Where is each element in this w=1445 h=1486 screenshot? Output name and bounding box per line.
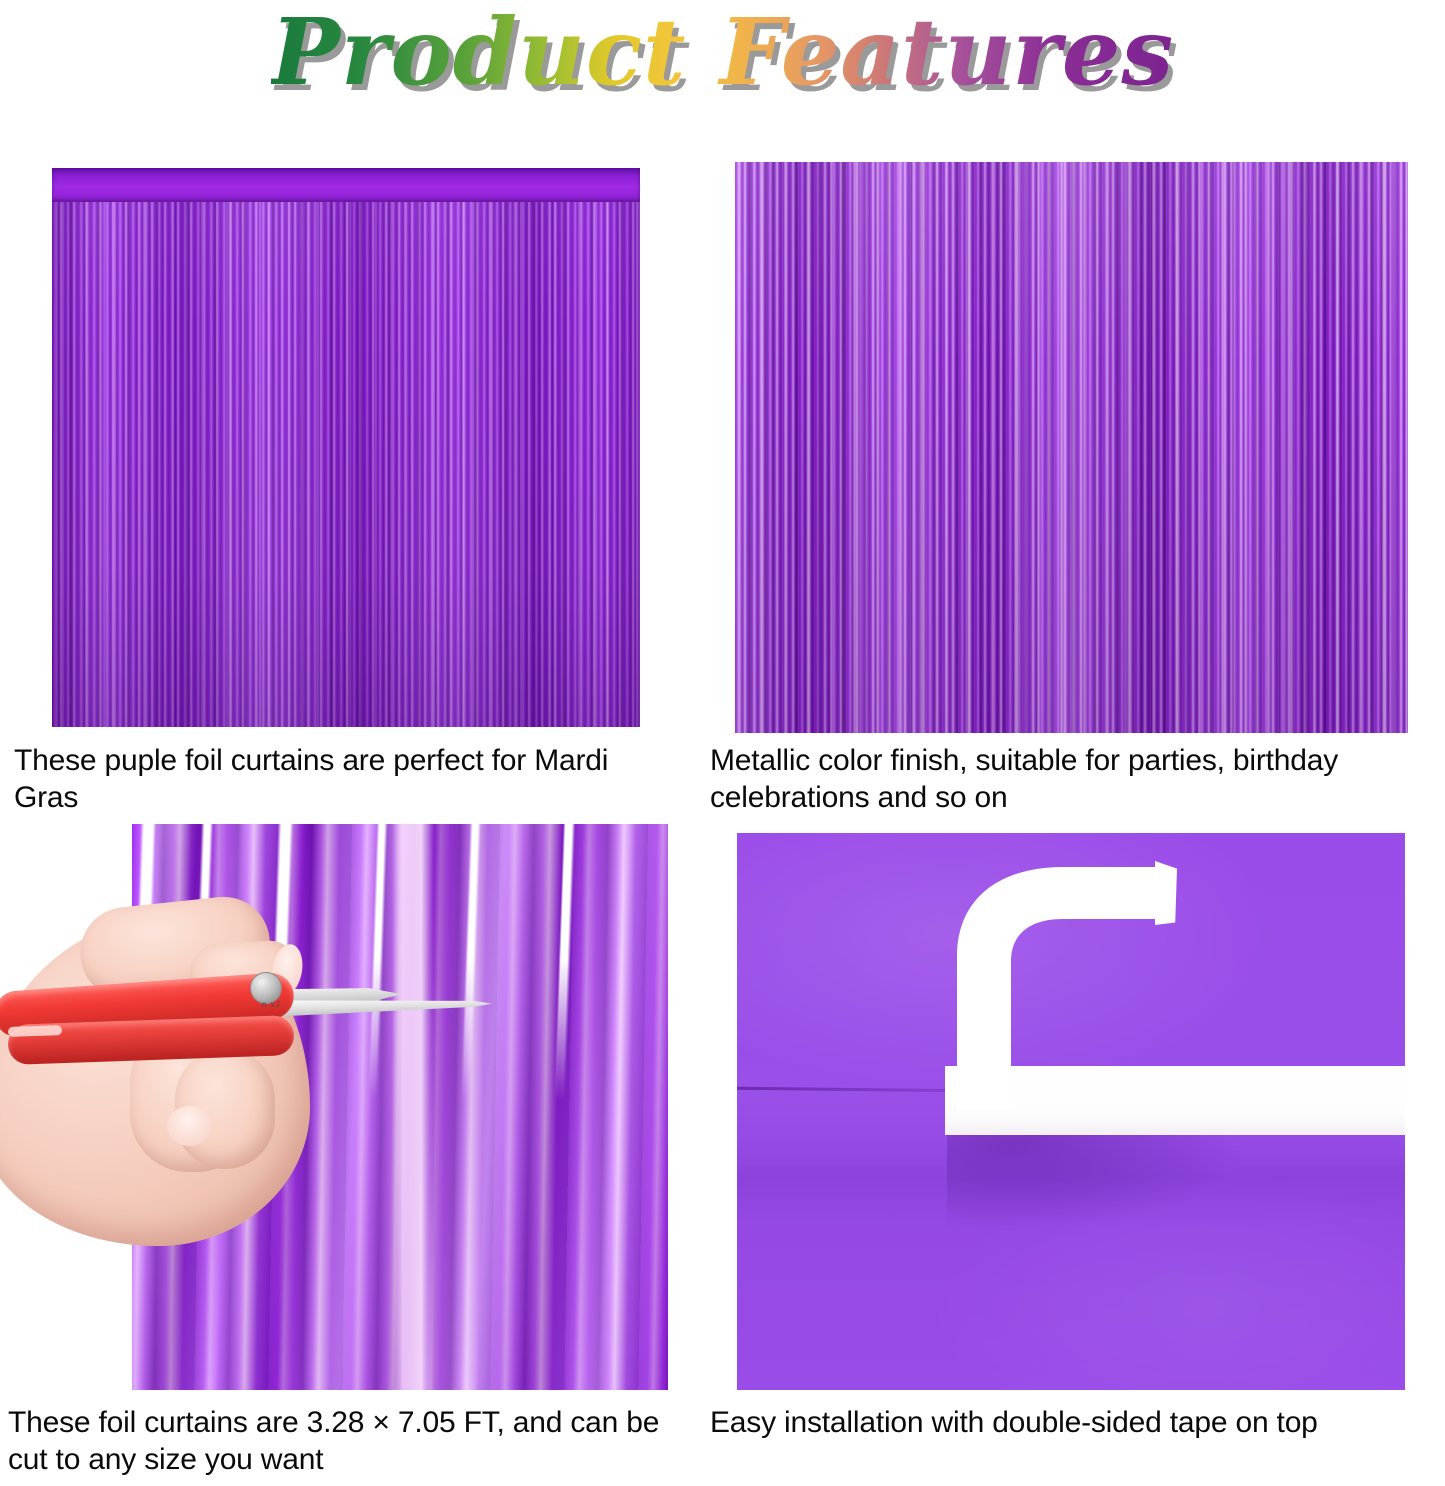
tape-strip-horizontal (945, 1066, 1405, 1135)
tape-strip-torn-tip (1155, 861, 1177, 925)
tape-shadow (947, 1133, 1247, 1233)
foil-shading-overlay (52, 168, 640, 727)
scissors-handle-gloss (8, 1025, 62, 1037)
fingernail (167, 1106, 213, 1146)
product-image-double-sided-tape (737, 833, 1405, 1390)
page-header: Product Features Product Features (0, 0, 1445, 120)
product-image-foil-curtain-2 (735, 162, 1408, 733)
foil-shading-overlay (735, 162, 1408, 733)
product-image-cutting-foil: n.xJ (0, 824, 668, 1390)
page-title: Product Features Product Features (271, 2, 1174, 102)
curtain-header-band (52, 168, 640, 202)
panel-caption-4: Easy installation with double-sided tape… (710, 1404, 1440, 1441)
panel-caption-1: These puple foil curtains are perfect fo… (14, 742, 654, 816)
panel-caption-3: These foil curtains are 3.28 × 7.05 FT, … (8, 1404, 680, 1478)
scissors-blade-marking: n.xJ (262, 1000, 284, 1009)
panel-caption-2: Metallic color finish, suitable for part… (710, 742, 1440, 816)
page-title-text: Product Features (271, 0, 1174, 106)
product-image-foil-curtain-1 (52, 168, 640, 727)
